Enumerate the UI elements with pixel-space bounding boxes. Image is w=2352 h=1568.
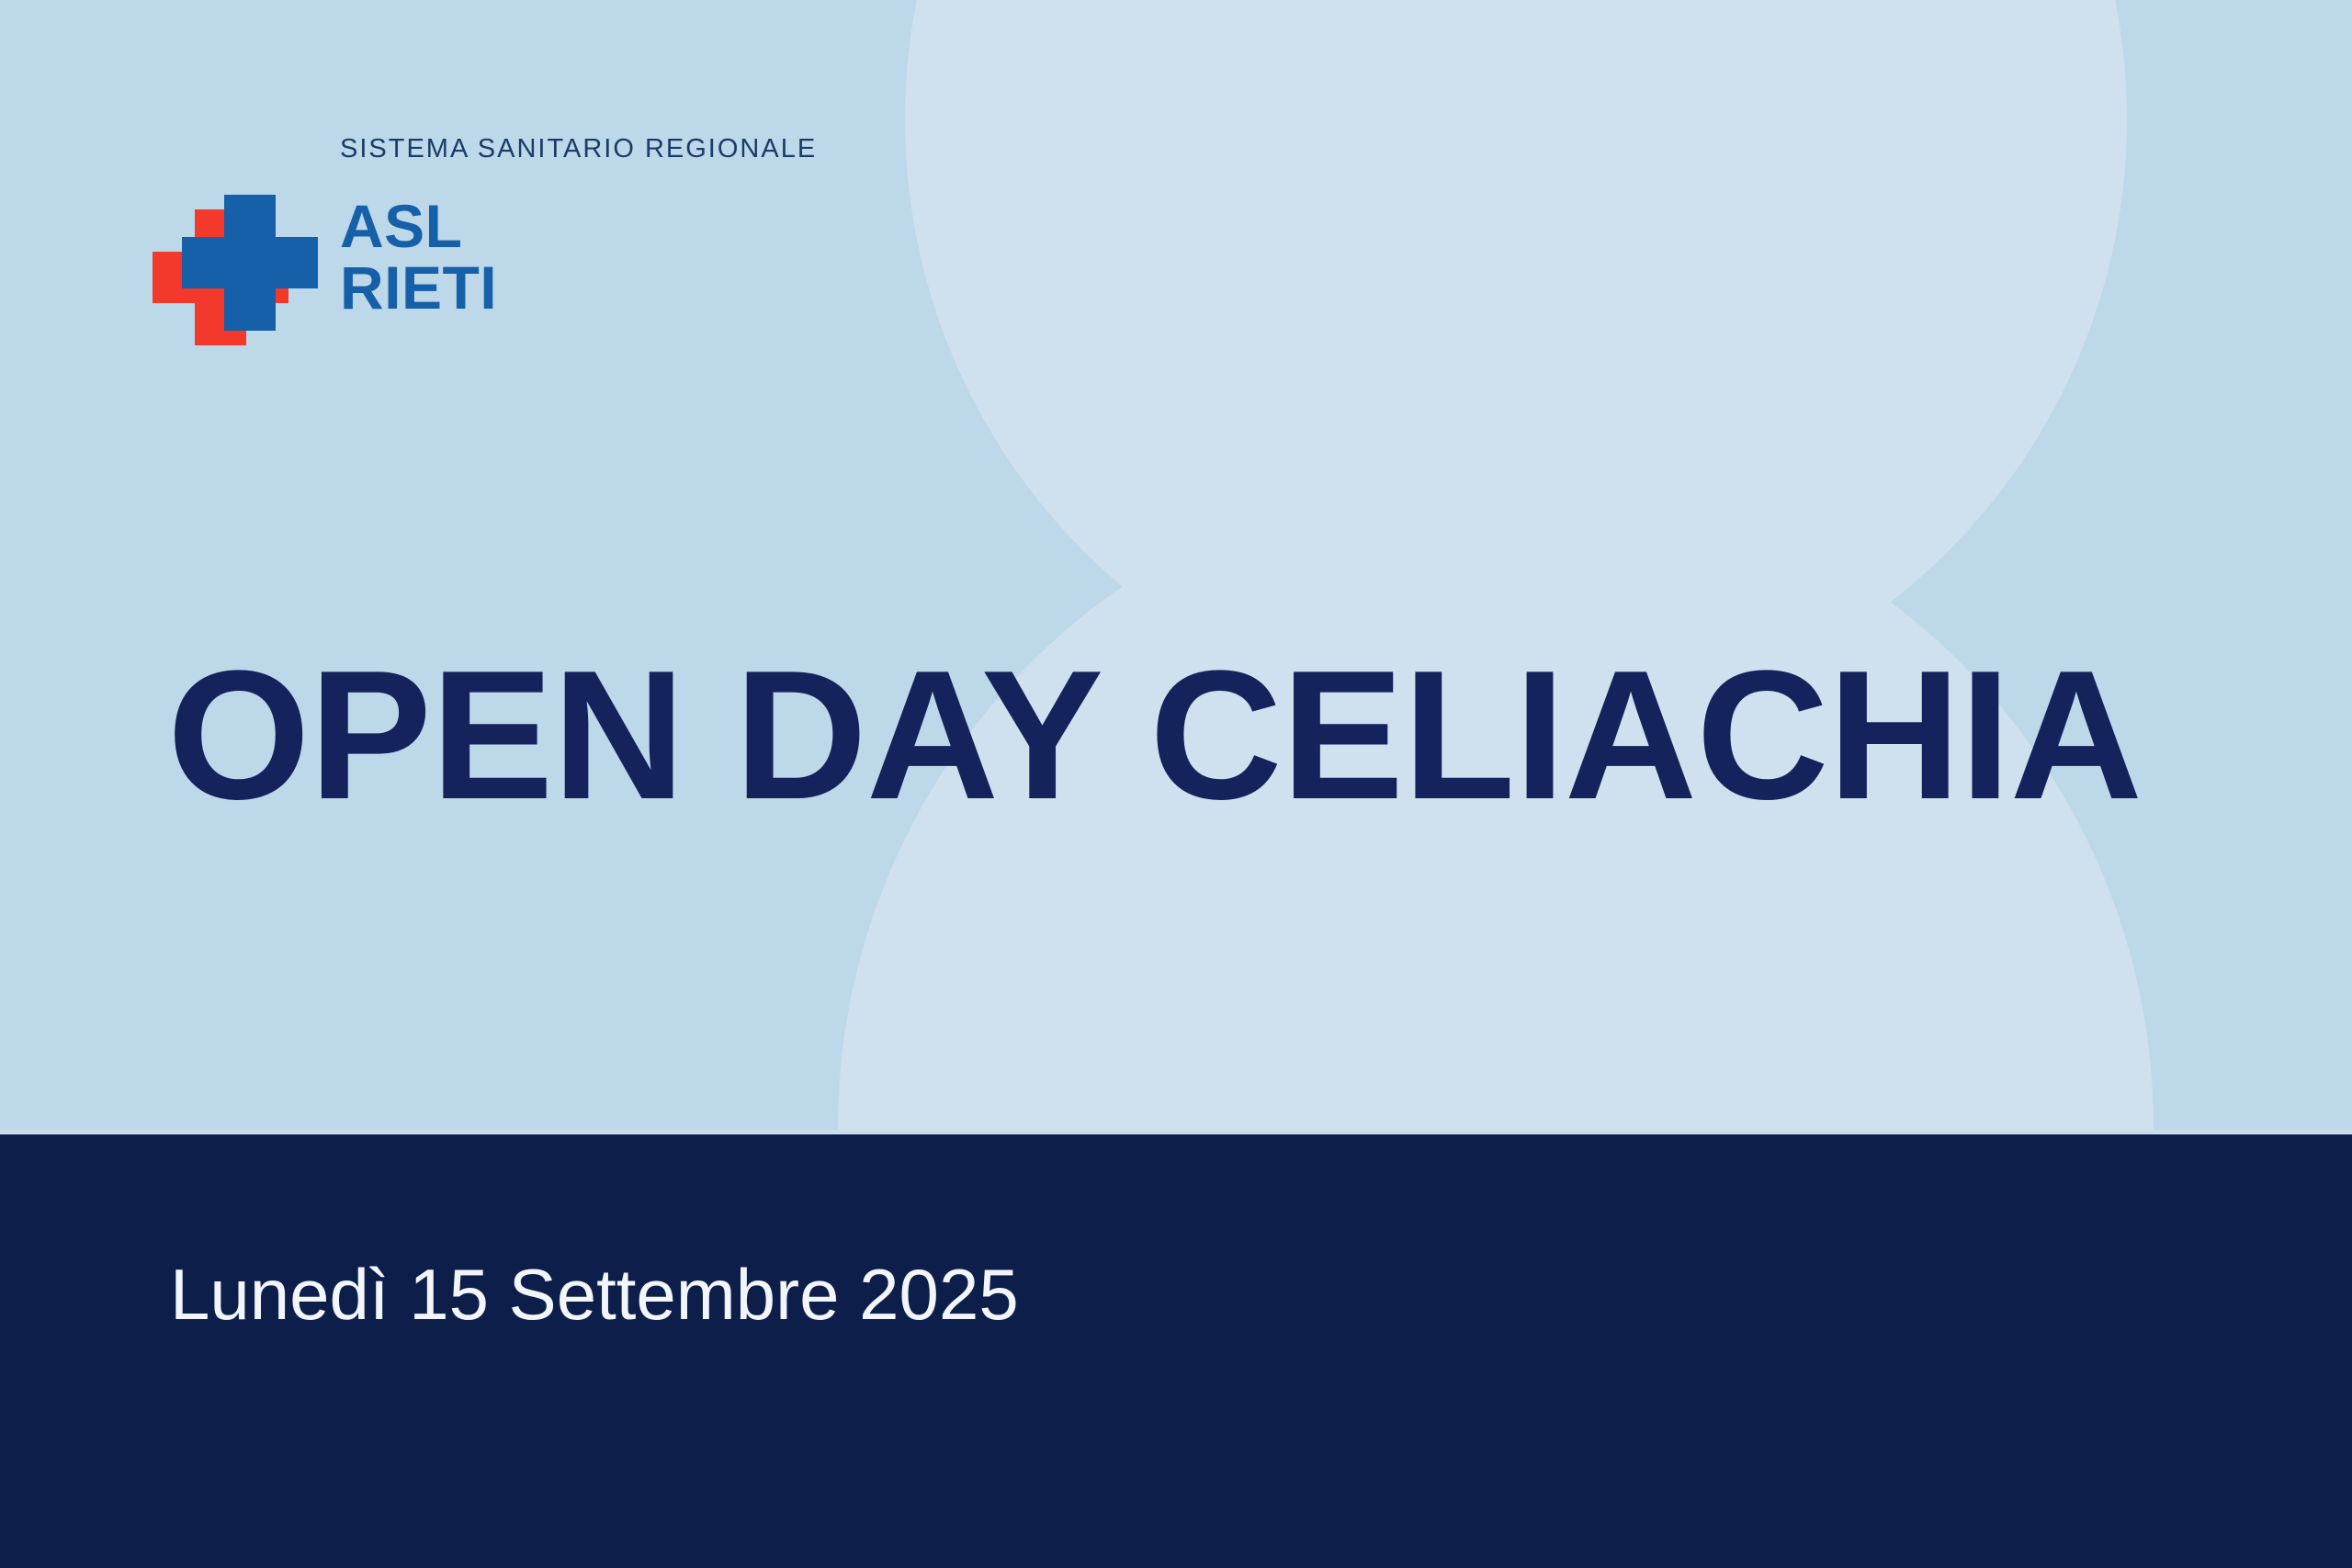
logo-name-line-2: RIETI [340, 257, 817, 319]
logo-wordmark: SISTEMA SANITARIO REGIONALE ASL RIETI [340, 136, 817, 320]
footer-band [0, 1134, 2352, 1568]
double-cross-icon [153, 184, 318, 345]
poster-slide: SISTEMA SANITARIO REGIONALE ASL RIETI OP… [0, 0, 2352, 1568]
event-date: Lunedì 15 Settembre 2025 [170, 1258, 1019, 1330]
asl-rieti-logo: SISTEMA SANITARIO REGIONALE ASL RIETI [153, 136, 817, 345]
logo-name-line-1: ASL [340, 196, 817, 257]
page-title: OPEN DAY CELIACHIA [167, 644, 2142, 828]
logo-organization-line: SISTEMA SANITARIO REGIONALE [340, 136, 817, 163]
